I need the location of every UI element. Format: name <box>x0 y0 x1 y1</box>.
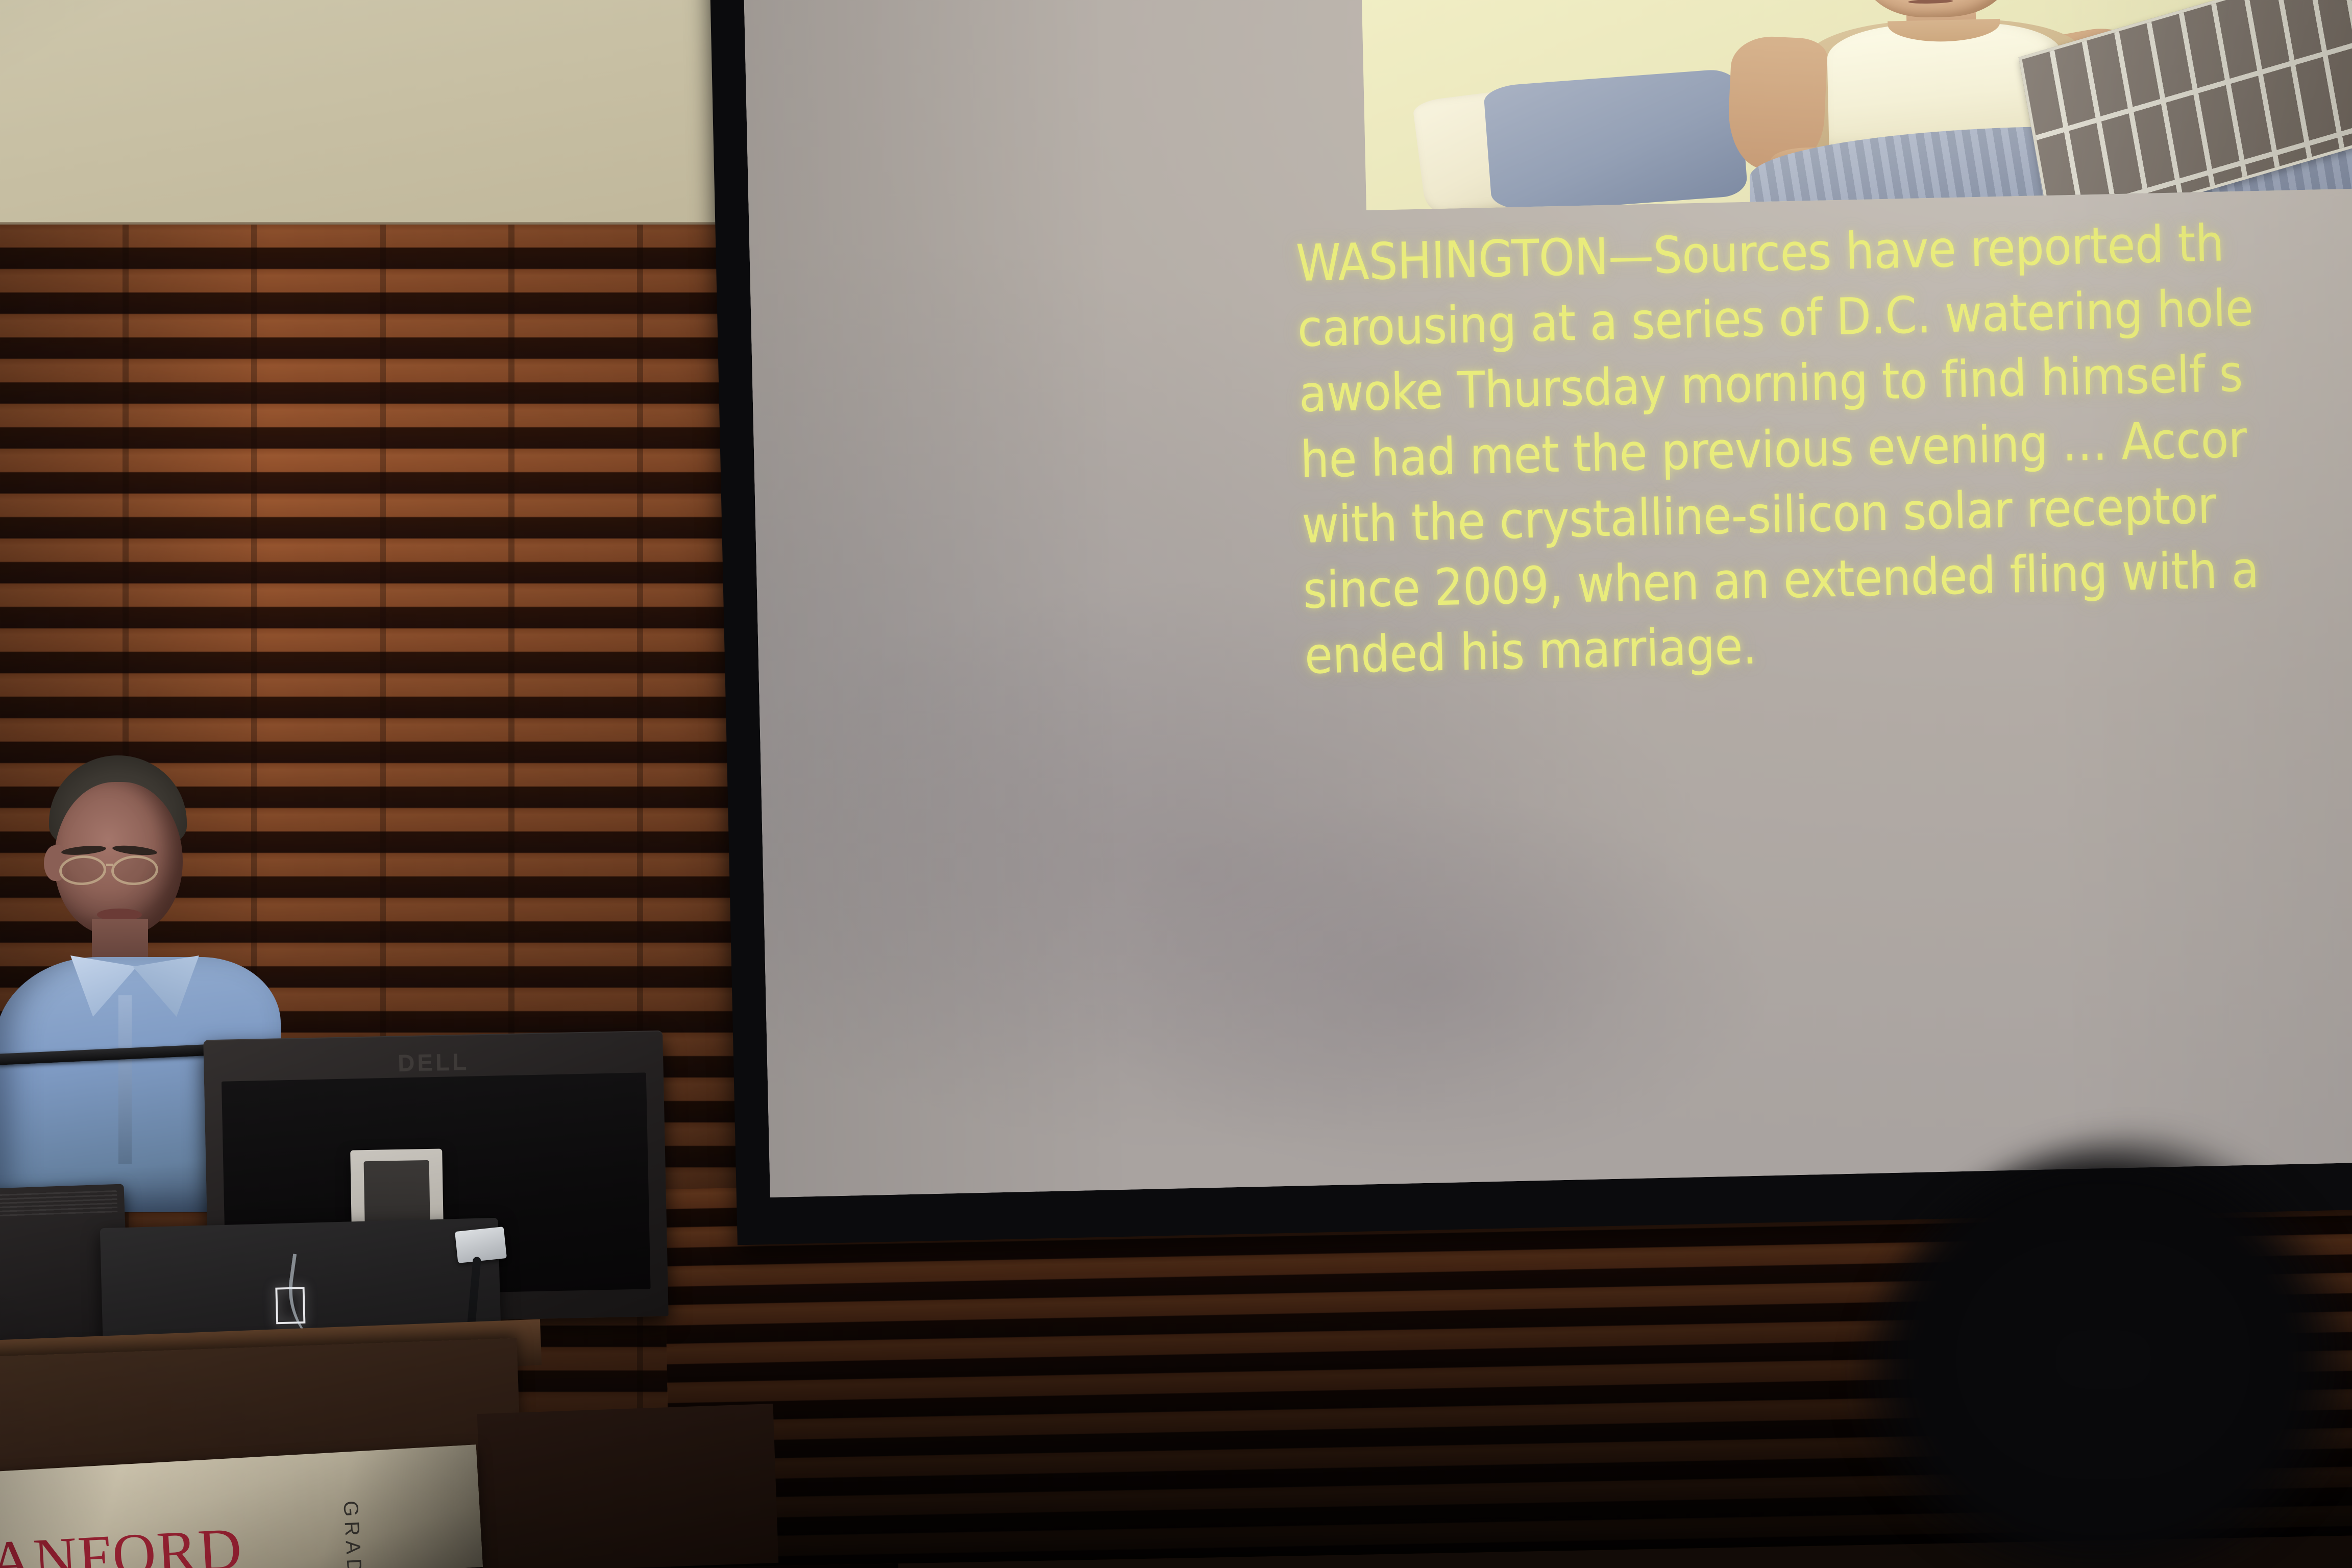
plaque-graduate-school-text: GRADUATE SCHOOL <box>338 1500 377 1568</box>
speaker-shirt-placket <box>118 995 132 1164</box>
slide-body-text: WASHINGTON—Sources have reported th caro… <box>1295 205 2352 690</box>
pillow-blue <box>1483 68 1748 211</box>
screenshot-root: WASHINGTON—Sources have reported th caro… <box>0 0 2352 1568</box>
screen-surface: WASHINGTON—Sources have reported th caro… <box>743 0 2352 1197</box>
speaker-eyeglass-bridge <box>106 864 113 866</box>
podium-side-panel <box>477 1404 779 1568</box>
projection-screen: WASHINGTON—Sources have reported th caro… <box>709 0 2352 1245</box>
slide-photo <box>1361 0 2352 210</box>
plaque-stanford-text: TANFORD <box>0 1514 244 1568</box>
power-plug <box>455 1227 507 1263</box>
